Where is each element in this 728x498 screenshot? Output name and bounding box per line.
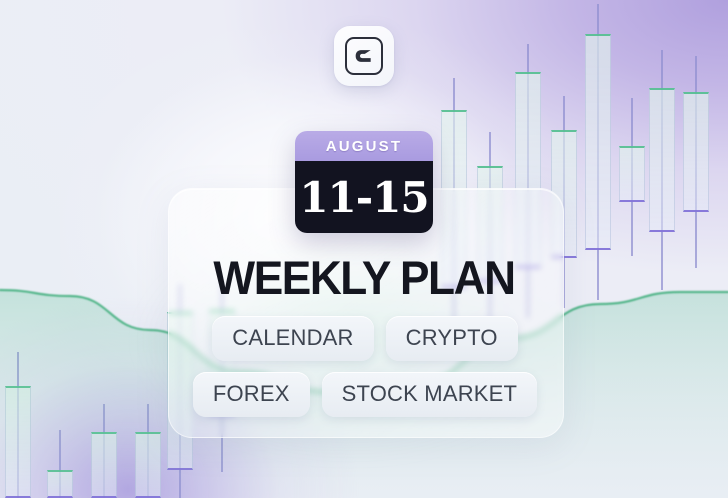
logo-glyph-icon xyxy=(354,46,374,66)
candle-body xyxy=(649,88,675,232)
brand-logo-tile[interactable] xyxy=(334,26,394,86)
tag-pill-calendar[interactable]: CALENDAR xyxy=(212,316,373,361)
tag-pill-stock-market[interactable]: STOCK MARKET xyxy=(322,372,538,417)
tag-pill-crypto[interactable]: CRYPTO xyxy=(386,316,518,361)
candle-body xyxy=(683,92,709,212)
candle-body xyxy=(47,470,73,498)
candlestick xyxy=(91,404,117,498)
candle-body xyxy=(135,432,161,498)
tag-pill-forex[interactable]: FOREX xyxy=(193,372,310,417)
tag-pill-group: CALENDAR CRYPTO FOREX STOCK MARKET xyxy=(168,316,562,428)
candlestick xyxy=(47,430,73,498)
page-title: WEEKLY PLAN xyxy=(22,250,706,305)
date-card: AUGUST 11-15 xyxy=(295,131,433,233)
candlestick xyxy=(135,404,161,498)
tag-pill-row-2: FOREX STOCK MARKET xyxy=(168,372,562,417)
candle-body xyxy=(91,432,117,498)
c-monogram-logo-icon xyxy=(345,37,383,75)
candle-body xyxy=(585,34,611,250)
candlestick xyxy=(5,352,31,498)
candle-body xyxy=(619,146,645,202)
date-range-label: 11-15 xyxy=(295,161,433,233)
date-month-label: AUGUST xyxy=(295,131,433,161)
candlestick xyxy=(683,56,709,268)
candlestick xyxy=(619,98,645,256)
candle-body xyxy=(5,386,31,498)
poster-canvas: AUGUST 11-15 WEEKLY PLAN CALENDAR CRYPTO… xyxy=(0,0,728,498)
tag-pill-row-1: CALENDAR CRYPTO xyxy=(168,316,562,361)
